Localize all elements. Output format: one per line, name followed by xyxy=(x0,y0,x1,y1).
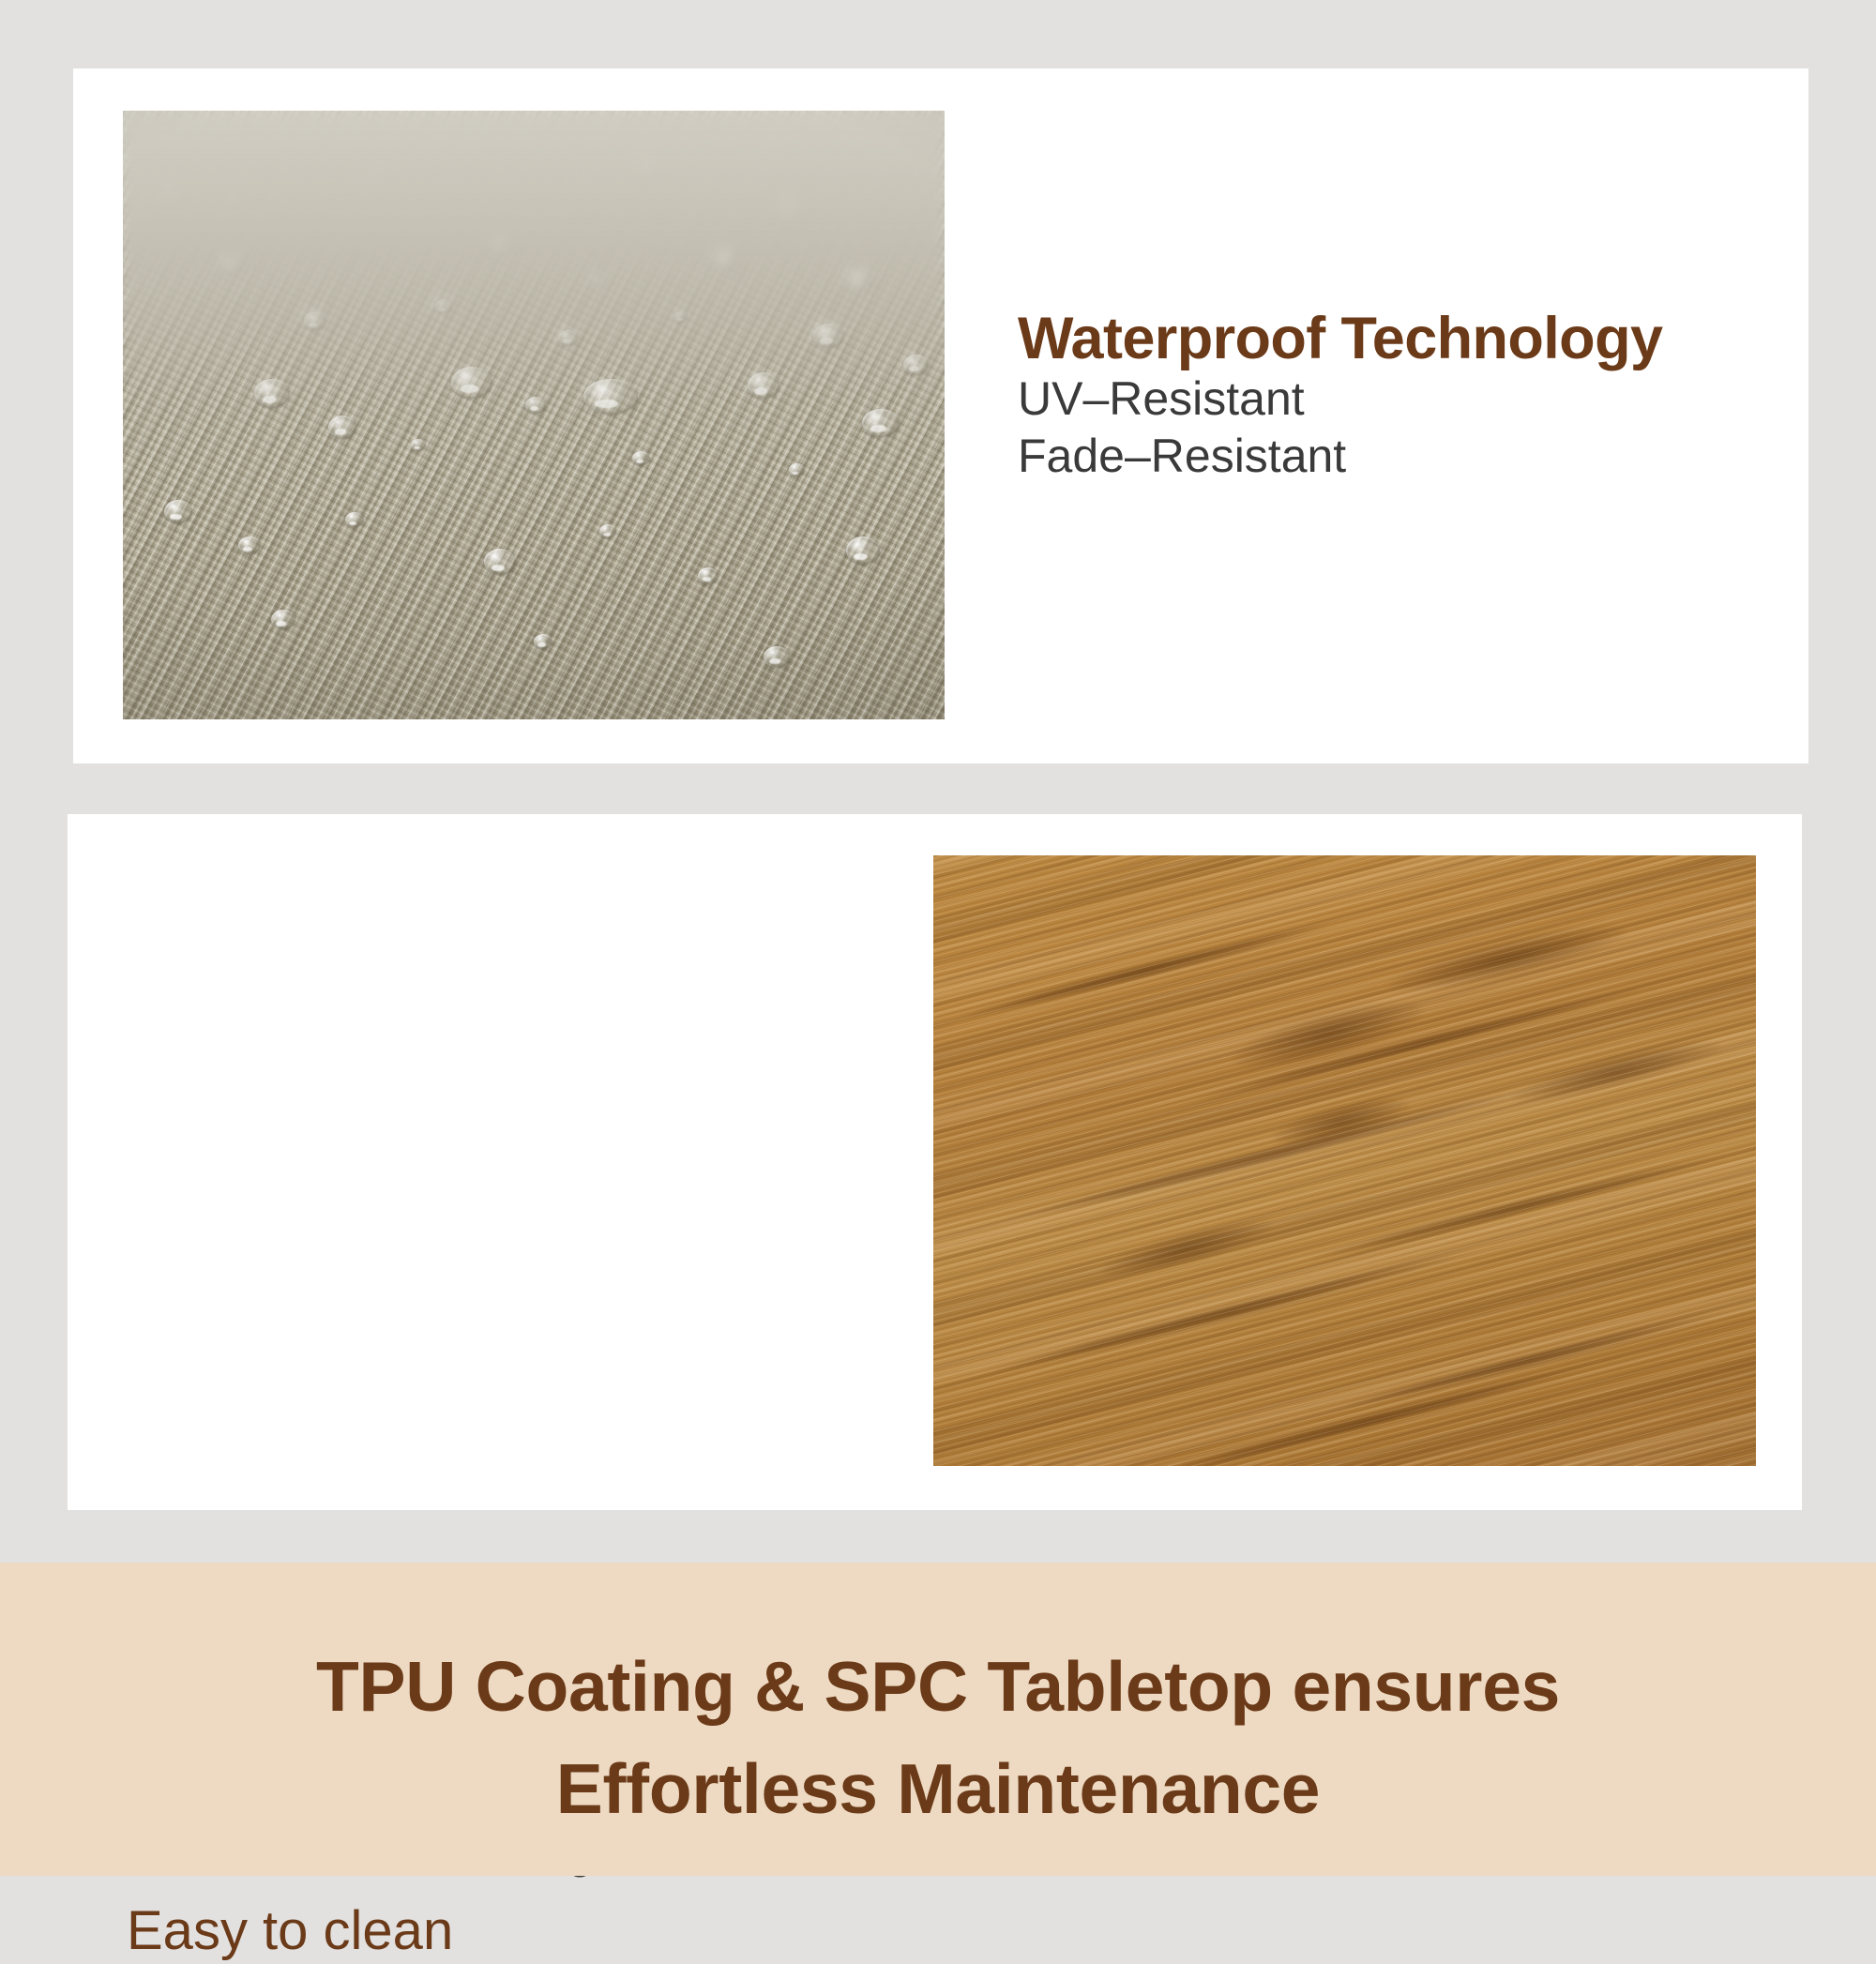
fabric-vignette xyxy=(123,111,945,719)
waterproof-text-block: Waterproof Technology UV–Resistant Fade–… xyxy=(1018,308,1810,486)
design-feature-card: Imitation Wood Grain Design Imitation Ma… xyxy=(68,814,1802,1510)
bottom-banner: TPU Coating & SPC Tabletop ensures Effor… xyxy=(0,1563,1876,1876)
banner-line-1: TPU Coating & SPC Tabletop ensures xyxy=(0,1636,1876,1738)
fabric-waterproof-photo xyxy=(123,111,945,719)
waterproof-feature-uv: UV–Resistant xyxy=(1018,370,1810,429)
wood-vignette xyxy=(933,855,1756,1466)
wood-grain-photo xyxy=(933,855,1756,1466)
waterproof-heading: Waterproof Technology xyxy=(1018,308,1810,370)
banner-line-2: Effortless Maintenance xyxy=(0,1738,1876,1840)
design-highlight-easy-to-clean: Easy to clean xyxy=(127,1898,877,1964)
banner-text-block: TPU Coating & SPC Tabletop ensures Effor… xyxy=(0,1636,1876,1840)
waterproof-feature-fade: Fade–Resistant xyxy=(1018,428,1810,486)
waterproof-feature-card: Waterproof Technology UV–Resistant Fade–… xyxy=(73,68,1808,763)
